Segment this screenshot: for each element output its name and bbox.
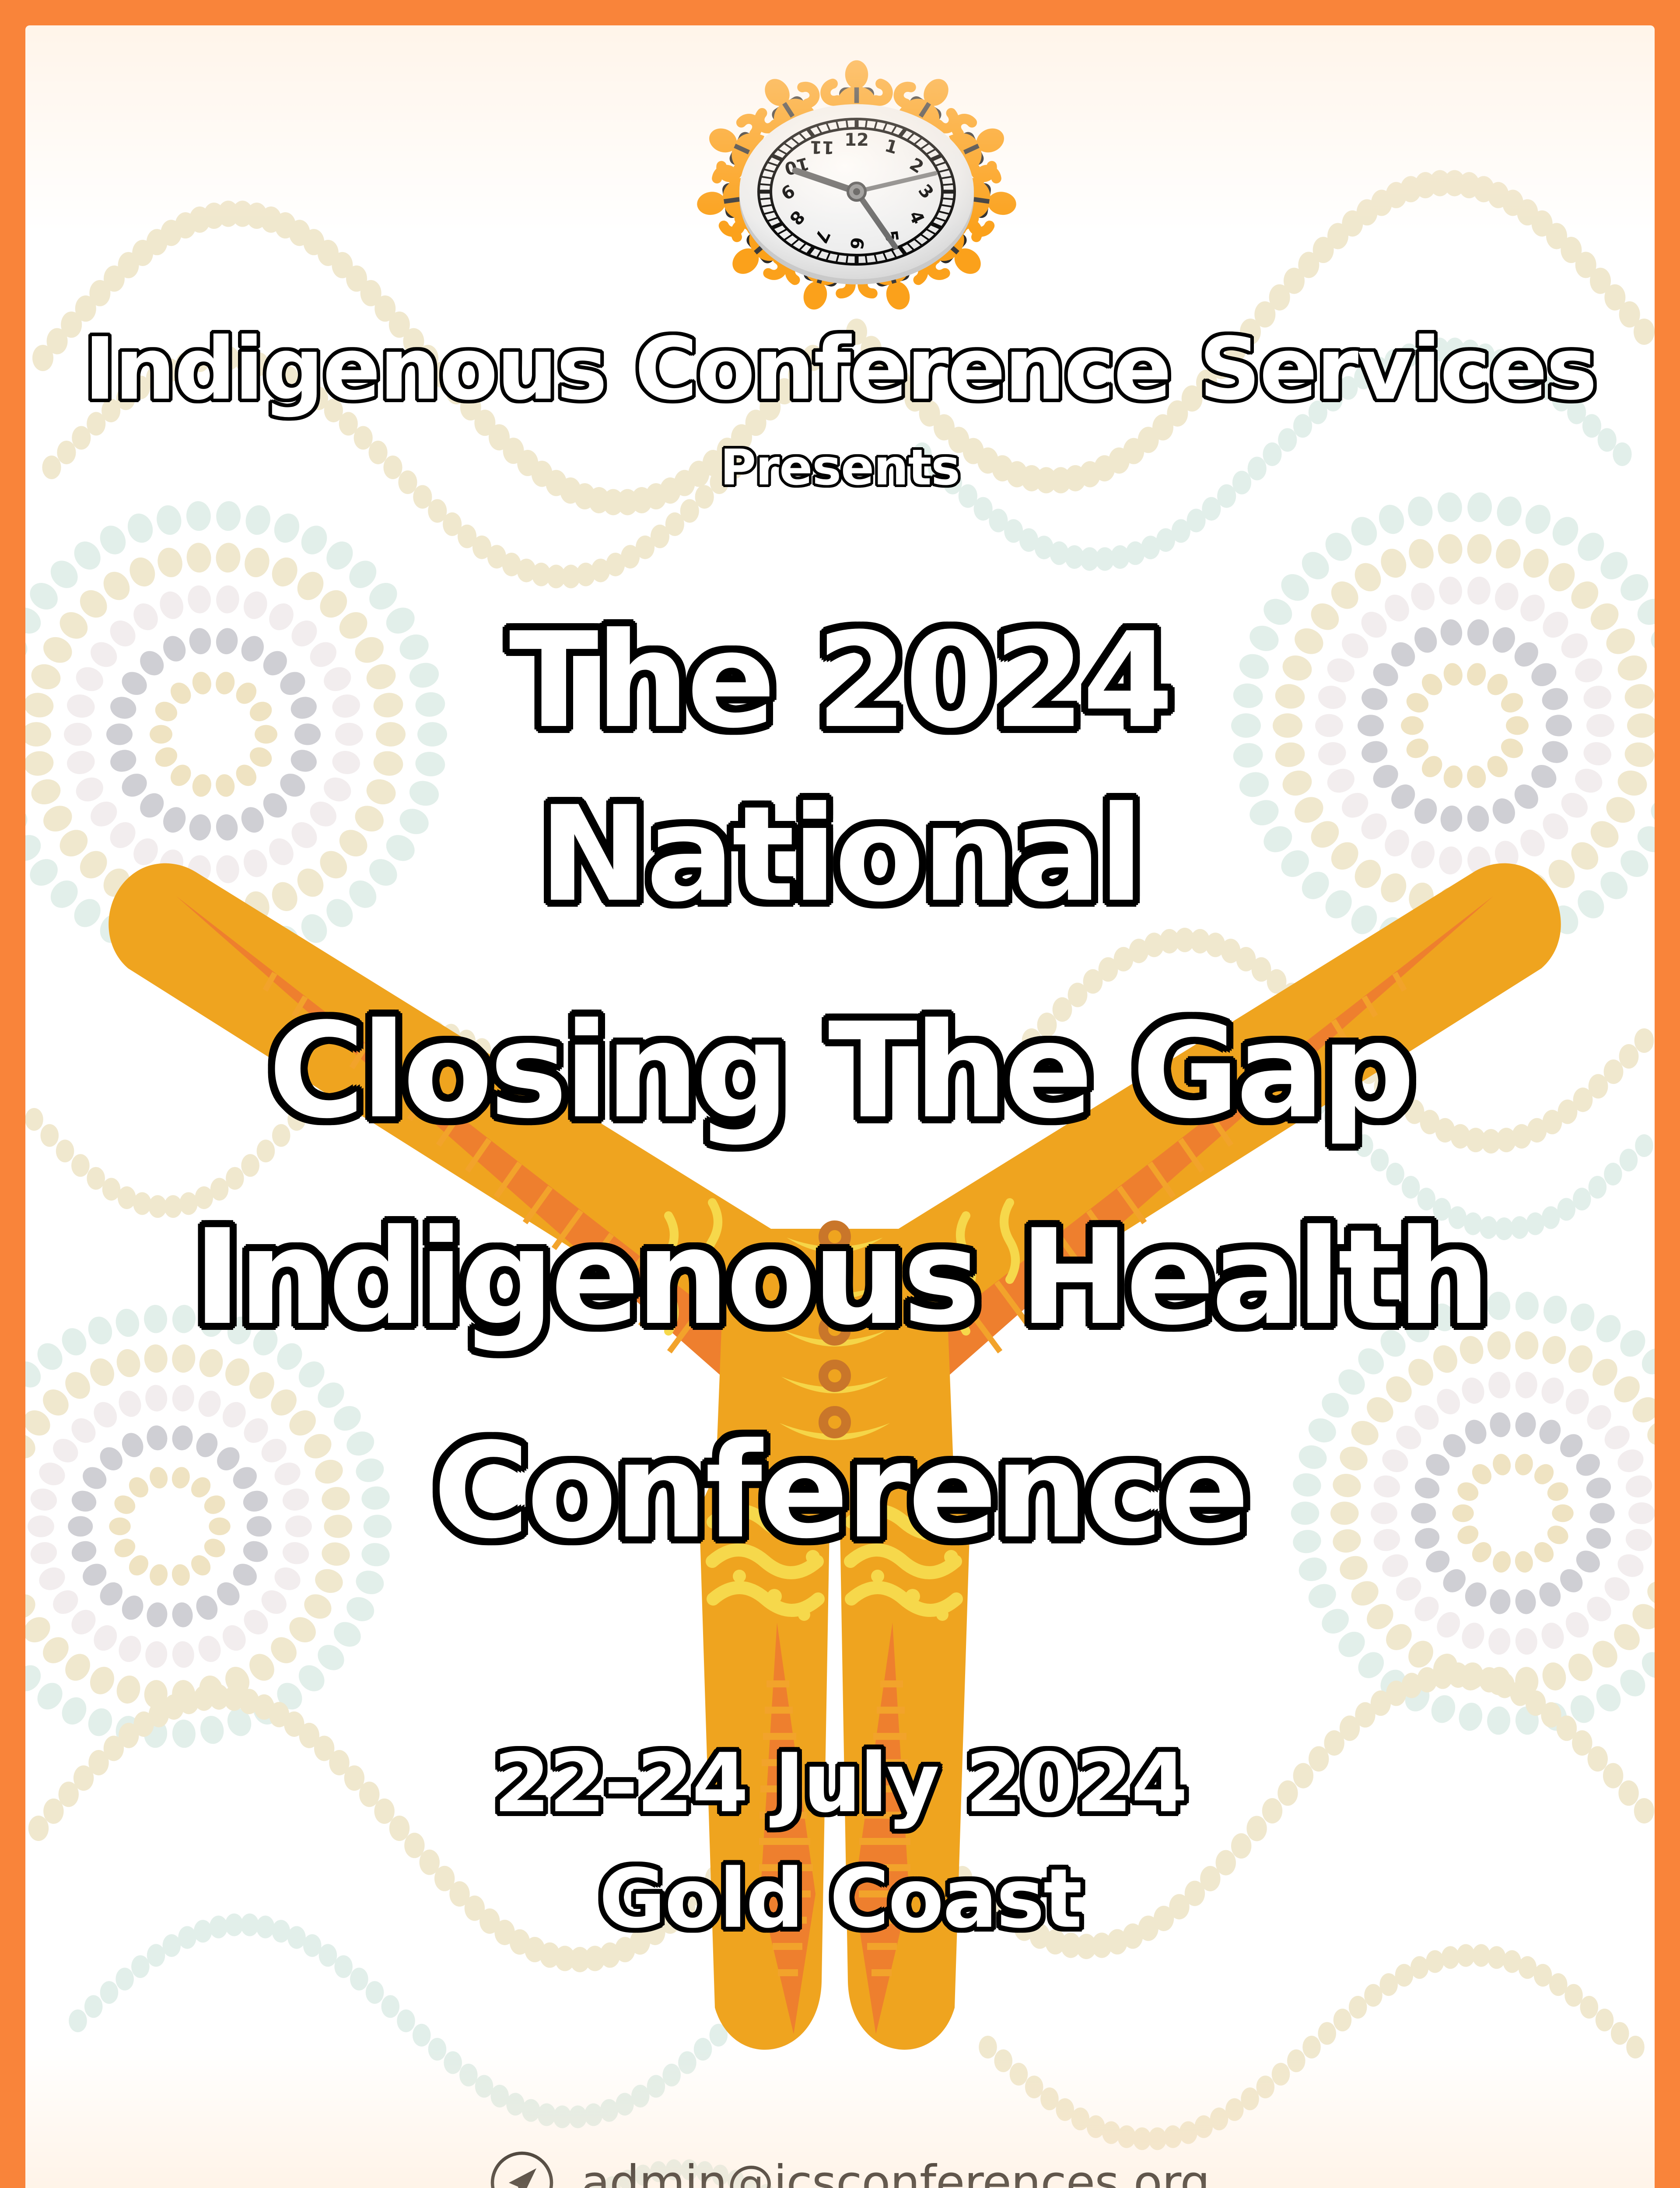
contact-email-row[interactable]: admin@icsconferences.org (489, 2150, 1210, 2188)
email-address[interactable]: admin@icsconferences.org (581, 2156, 1210, 2188)
poster-text-content: Indigenous Conference Services Presents … (25, 25, 1655, 2188)
conference-dates: 22-24 July 2024 (25, 1743, 1655, 1824)
conference-poster: 121234567891011 Indigenous Conference Se… (0, 0, 1680, 2188)
presents-label: Presents (25, 443, 1655, 492)
contact-block: admin@icsconferences.org www.icsconferen… (489, 2150, 1210, 2188)
title-line-3: Closing The Gap (25, 1006, 1655, 1137)
conference-location: Gold Coast (25, 1858, 1655, 1939)
poster-canvas: 121234567891011 Indigenous Conference Se… (25, 25, 1655, 2188)
organisation-name: Indigenous Conference Services (25, 326, 1655, 412)
title-line-1: The 2024 (25, 615, 1655, 747)
title-line-4: Indigenous Health (25, 1212, 1655, 1343)
title-line-2: National (25, 789, 1655, 920)
title-line-5: Conference (25, 1426, 1655, 1557)
send-icon (489, 2150, 555, 2188)
